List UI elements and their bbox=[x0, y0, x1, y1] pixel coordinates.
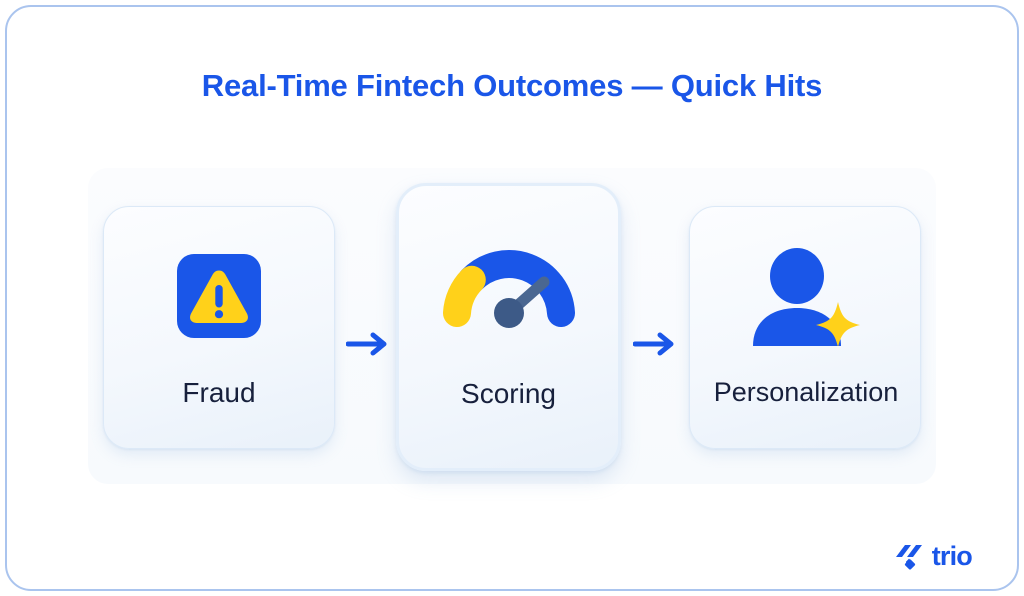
trio-logo: trio bbox=[895, 543, 972, 570]
flow-card-scoring[interactable]: Scoring bbox=[396, 183, 621, 471]
flow-diagram: Fraud Scoring bbox=[88, 168, 936, 484]
page-title: Real-Time Fintech Outcomes — Quick Hits bbox=[0, 68, 1024, 104]
gauge-icon-wrap bbox=[399, 248, 618, 346]
flow-card-label-fraud: Fraud bbox=[104, 377, 334, 409]
person-sparkle-icon bbox=[745, 246, 865, 346]
trio-logo-text: trio bbox=[932, 543, 972, 570]
person-sparkle-icon-wrap bbox=[690, 247, 920, 345]
trio-logo-mark bbox=[895, 544, 925, 570]
slide-canvas: Real-Time Fintech Outcomes — Quick Hits … bbox=[0, 0, 1024, 596]
flow-card-fraud[interactable]: Fraud bbox=[103, 206, 335, 449]
flow-card-personalization[interactable]: Personalization bbox=[689, 206, 921, 449]
warning-triangle-icon bbox=[176, 253, 262, 339]
flow-connector-2 bbox=[633, 331, 677, 357]
arrow-right-icon bbox=[633, 331, 677, 357]
flow-card-label-personalization: Personalization bbox=[688, 377, 924, 408]
flow-connector-1 bbox=[346, 331, 390, 357]
flow-card-label-scoring: Scoring bbox=[399, 378, 618, 410]
gauge-icon bbox=[443, 247, 575, 347]
arrow-right-icon bbox=[346, 331, 390, 357]
warning-triangle-icon-wrap bbox=[104, 247, 334, 345]
